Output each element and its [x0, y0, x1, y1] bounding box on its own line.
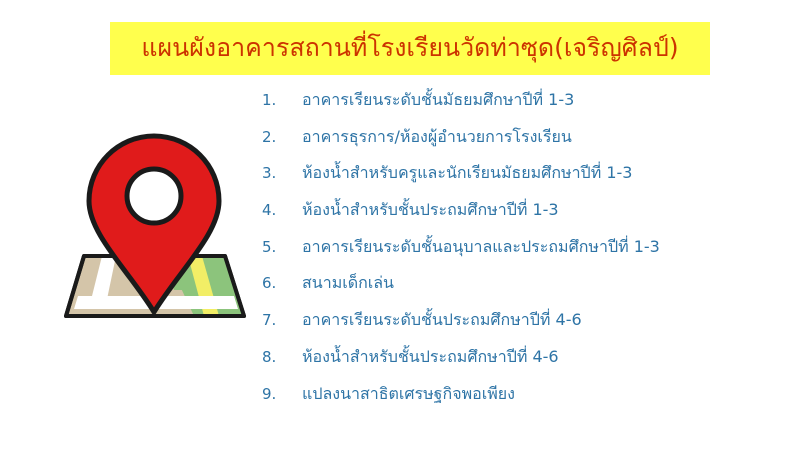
list-item-number: 5. [262, 238, 302, 256]
list-item-label: ห้องน้ำสำหรับชั้นประถมศึกษาปีที่ 1-3 [302, 198, 559, 223]
list-item-number: 2. [262, 128, 302, 146]
list-item-label: แปลงนาสาธิตเศรษฐกิจพอเพียง [302, 382, 515, 407]
list-item-number: 3. [262, 164, 302, 182]
list-item: 4. ห้องน้ำสำหรับชั้นประถมศึกษาปีที่ 1-3 [262, 198, 782, 235]
list-item-label: อาคารธุรการ/ห้องผู้อำนวยการโรงเรียน [302, 125, 572, 150]
list-item: 5. อาคารเรียนระดับชั้นอนุบาลและประถมศึกษ… [262, 235, 782, 272]
list-item-number: 4. [262, 201, 302, 219]
list-item: 2. อาคารธุรการ/ห้องผู้อำนวยการโรงเรียน [262, 125, 782, 162]
list-item-number: 6. [262, 274, 302, 292]
map-location-pin-icon [62, 130, 247, 322]
list-item-label: อาคารเรียนระดับชั้นอนุบาลและประถมศึกษาปี… [302, 235, 660, 260]
list-item-label: ห้องน้ำสำหรับชั้นประถมศึกษาปีที่ 4-6 [302, 345, 559, 370]
list-item-label: อาคารเรียนระดับชั้นประถมศึกษาปีที่ 4-6 [302, 308, 582, 333]
list-item: 3. ห้องน้ำสำหรับครูและนักเรียนมัธยมศึกษา… [262, 161, 782, 198]
list-item: 7. อาคารเรียนระดับชั้นประถมศึกษาปีที่ 4-… [262, 308, 782, 345]
page-title: แผนผังอาคารสถานที่โรงเรียนวัดท่าซุด(เจริ… [141, 34, 678, 63]
list-item: 9. แปลงนาสาธิตเศรษฐกิจพอเพียง [262, 382, 782, 419]
list-item-number: 1. [262, 91, 302, 109]
building-legend-list: 1. อาคารเรียนระดับชั้นมัธยมศึกษาปีที่ 1-… [262, 88, 782, 418]
list-item-label: ห้องน้ำสำหรับครูและนักเรียนมัธยมศึกษาปีท… [302, 161, 632, 186]
list-item-number: 8. [262, 348, 302, 366]
list-item: 6. สนามเด็กเล่น [262, 271, 782, 308]
list-item-number: 7. [262, 311, 302, 329]
list-item: 1. อาคารเรียนระดับชั้นมัธยมศึกษาปีที่ 1-… [262, 88, 782, 125]
title-banner: แผนผังอาคารสถานที่โรงเรียนวัดท่าซุด(เจริ… [110, 22, 710, 75]
list-item: 8. ห้องน้ำสำหรับชั้นประถมศึกษาปีที่ 4-6 [262, 345, 782, 382]
list-item-number: 9. [262, 385, 302, 403]
list-item-label: อาคารเรียนระดับชั้นมัธยมศึกษาปีที่ 1-3 [302, 88, 574, 113]
list-item-label: สนามเด็กเล่น [302, 271, 394, 296]
